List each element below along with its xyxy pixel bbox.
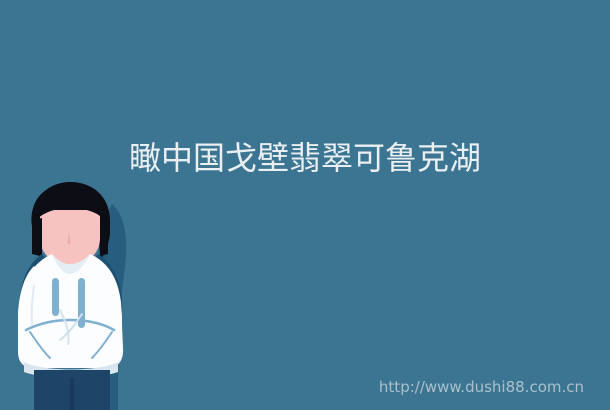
article-banner: 瞰中国戈壁翡翠可鲁克湖 <box>0 0 610 410</box>
person-illustration <box>8 182 138 410</box>
site-url-watermark: http://www.dushi88.com.cn <box>379 378 584 396</box>
hoodie-drawstring-left <box>52 278 59 316</box>
page-title: 瞰中国戈壁翡翠可鲁克湖 <box>0 138 610 178</box>
